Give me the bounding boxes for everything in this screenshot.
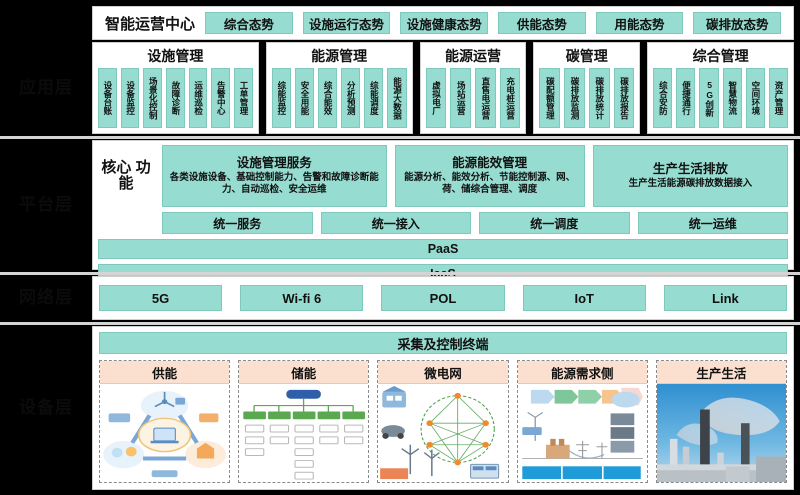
- app-item[interactable]: 综合能效: [318, 68, 337, 128]
- core-box-energy-efficiency[interactable]: 能源能效管理 能源分析、能效分析、节能控制源、网、荷、储综合管理、调度: [395, 145, 585, 207]
- app-item[interactable]: 综合安防: [653, 68, 672, 128]
- paas-bar: PaaS: [98, 239, 788, 259]
- layer-label-network-text: 网络层: [19, 289, 73, 307]
- app-item[interactable]: 碳排放统计: [589, 68, 610, 128]
- device-card-list: 供能: [99, 360, 787, 483]
- app-item[interactable]: 故障诊断: [166, 68, 185, 128]
- app-group-items: 碳配额管理 碳排放监测 碳排放统计 碳排放报告: [539, 68, 634, 128]
- ioc-tab-list: 综合态势 设施运行态势 设施健康态势 供能态势 用能态势 碳排放态势: [205, 12, 785, 34]
- acquisition-control-terminal-header: 采集及控制终端: [99, 332, 787, 354]
- unified-ops[interactable]: 统一运维: [638, 212, 789, 234]
- app-item[interactable]: 5G创新: [699, 68, 718, 128]
- core-function-row: 核心 功能 设施管理服务 各类设施设备、基础控制能力、告警和故障诊断能力、自动巡…: [98, 145, 788, 207]
- app-item[interactable]: 工单管理: [234, 68, 253, 128]
- core-function-label-line1: 核心: [101, 159, 131, 176]
- factory-smokestacks-photo-icon: [657, 384, 786, 482]
- network-layer-band: 网络层 5G Wi-fi 6 POL IoT Link: [0, 276, 800, 320]
- core-box-desc: 各类设施设备、基础控制能力、告警和故障诊断能力、自动巡检、安全运维: [169, 172, 380, 196]
- network-item-5g[interactable]: 5G: [99, 285, 222, 311]
- layer-label-platform: 平台层: [0, 140, 92, 270]
- ioc-panel: 智能运营中心 综合态势 设施运行态势 设施健康态势 供能态势 用能态势 碳排放态…: [92, 6, 794, 40]
- network-panel: 5G Wi-fi 6 POL IoT Link: [92, 276, 794, 320]
- core-box-desc: 生产生活能源碳排放数据接入: [629, 178, 753, 190]
- unified-capability-row: 统一服务 统一接入 统一调度 统一运维: [98, 212, 788, 234]
- app-item[interactable]: 能源大数据: [387, 68, 406, 128]
- device-card-body: [100, 384, 229, 482]
- device-card-body: [239, 384, 368, 482]
- app-item[interactable]: 场景化控制: [143, 68, 162, 128]
- core-box-title: 设施管理服务: [237, 156, 312, 171]
- device-layer-band: 设备层 采集及控制终端 供能: [0, 326, 800, 490]
- unified-service[interactable]: 统一服务: [162, 212, 313, 234]
- app-item[interactable]: 空间环境: [746, 68, 765, 128]
- layer-label-device-text: 设备层: [19, 399, 73, 417]
- app-item[interactable]: 碳配额管理: [539, 68, 560, 128]
- app-item[interactable]: 虚拟电厂: [426, 68, 447, 128]
- app-group-energy-management: 能源管理 综能监控 安全用能 综合能效 分析预测 综能调度 能源大数据: [266, 42, 413, 134]
- ioc-tab[interactable]: 综合态势: [205, 12, 293, 34]
- app-item[interactable]: 运维巡检: [189, 68, 208, 128]
- app-item[interactable]: 告警中心: [211, 68, 230, 128]
- layer-separator: [0, 136, 800, 139]
- app-group-facility-management: 设施管理 设备台账 设备监控 场景化控制 故障诊断 运维巡检 告警中心 工单管理: [92, 42, 259, 134]
- layer-separator: [0, 322, 800, 325]
- ioc-band: 智能运营中心 综合态势 设施运行态势 设施健康态势 供能态势 用能态势 碳排放态…: [0, 6, 800, 40]
- app-group-energy-operation: 能源运营 虚拟电厂 场站运营 直售电运营 充电桩运营: [420, 42, 527, 134]
- device-card-body: [518, 384, 647, 482]
- app-item[interactable]: 综能调度: [364, 68, 383, 128]
- network-item-iot[interactable]: IoT: [523, 285, 646, 311]
- ioc-tab[interactable]: 用能态势: [596, 12, 684, 34]
- layer-label-application-top: [0, 6, 92, 40]
- device-card-demand-side[interactable]: 能源需求侧: [517, 360, 648, 483]
- ioc-tab[interactable]: 碳排放态势: [693, 12, 781, 34]
- storage-table-diagram-icon: [239, 384, 368, 482]
- app-item[interactable]: 安全用能: [295, 68, 314, 128]
- app-item[interactable]: 综能监控: [272, 68, 291, 128]
- unified-access[interactable]: 统一接入: [321, 212, 472, 234]
- ioc-tab[interactable]: 供能态势: [498, 12, 586, 34]
- demand-side-flow-diagram-icon: [518, 384, 647, 482]
- app-item[interactable]: 设备监控: [121, 68, 140, 128]
- app-group-title: 碳管理: [539, 47, 634, 65]
- device-card-microgrid[interactable]: 微电网: [377, 360, 508, 483]
- network-item-pol[interactable]: POL: [381, 285, 504, 311]
- device-card-production-life[interactable]: 生产生活: [656, 360, 787, 483]
- app-group-title: 综合管理: [653, 47, 788, 65]
- core-box-desc: 能源分析、能效分析、节能控制源、网、荷、储综合管理、调度: [402, 172, 578, 196]
- device-card-body: [378, 384, 507, 482]
- device-card-title: 微电网: [378, 361, 507, 384]
- app-item[interactable]: 资产管理: [769, 68, 788, 128]
- app-item[interactable]: 分析预测: [341, 68, 360, 128]
- core-function-label: 核心 功能: [98, 145, 154, 207]
- device-card-title: 供能: [100, 361, 229, 384]
- device-card-body: [657, 384, 786, 482]
- app-item[interactable]: 场站运营: [450, 68, 471, 128]
- layer-label-network: 网络层: [0, 276, 92, 320]
- layer-label-platform-text: 平台层: [19, 196, 73, 214]
- core-box-title: 能源能效管理: [452, 156, 527, 171]
- app-group-items: 综能监控 安全用能 综合能效 分析预测 综能调度 能源大数据: [272, 68, 407, 128]
- device-card-title: 储能: [239, 361, 368, 384]
- application-group-list: 设施管理 设备台账 设备监控 场景化控制 故障诊断 运维巡检 告警中心 工单管理…: [92, 42, 794, 134]
- ioc-tab[interactable]: 设施运行态势: [303, 12, 391, 34]
- app-item[interactable]: 便捷通行: [676, 68, 695, 128]
- app-item[interactable]: 碳排放报告: [614, 68, 635, 128]
- device-card-energy-supply[interactable]: 供能: [99, 360, 230, 483]
- layer-label-application-text: 应用层: [19, 79, 73, 97]
- network-item-link[interactable]: Link: [664, 285, 787, 311]
- core-box-title: 生产生活排放: [653, 162, 728, 177]
- app-group-items: 设备台账 设备监控 场景化控制 故障诊断 运维巡检 告警中心 工单管理: [98, 68, 253, 128]
- layer-label-application: 应用层: [0, 42, 92, 134]
- energy-supply-diagram-icon: [100, 384, 229, 482]
- network-item-wifi6[interactable]: Wi-fi 6: [240, 285, 363, 311]
- core-box-facility-service[interactable]: 设施管理服务 各类设施设备、基础控制能力、告警和故障诊断能力、自动巡检、安全运维: [162, 145, 387, 207]
- device-card-title: 生产生活: [657, 361, 786, 384]
- app-item[interactable]: 直售电运营: [475, 68, 496, 128]
- app-item[interactable]: 设备台账: [98, 68, 117, 128]
- layer-label-device: 设备层: [0, 326, 92, 490]
- ioc-tab[interactable]: 设施健康态势: [400, 12, 488, 34]
- layer-separator: [0, 272, 800, 275]
- device-card-title: 能源需求侧: [518, 361, 647, 384]
- paas-row: PaaS: [98, 239, 788, 259]
- app-item[interactable]: 碳排放监测: [564, 68, 585, 128]
- platform-layer-band: 平台层 核心 功能 设施管理服务 各类设施设备、基础控制能力、告警和故障诊断能力…: [0, 140, 800, 270]
- ioc-title: 智能运营中心: [101, 13, 205, 34]
- app-group-items: 虚拟电厂 场站运营 直售电运营 充电桩运营: [426, 68, 521, 128]
- app-group-title: 能源运营: [426, 47, 521, 65]
- microgrid-network-diagram-icon: [378, 384, 507, 482]
- device-panel: 采集及控制终端 供能: [92, 326, 794, 490]
- core-box-production-emission[interactable]: 生产生活排放 生产生活能源碳排放数据接入: [593, 145, 788, 207]
- app-item[interactable]: 智慧物流: [723, 68, 742, 128]
- platform-panel: 核心 功能 设施管理服务 各类设施设备、基础控制能力、告警和故障诊断能力、自动巡…: [92, 140, 794, 270]
- architecture-diagram: 智能运营中心 综合态势 设施运行态势 设施健康态势 供能态势 用能态势 碳排放态…: [0, 0, 800, 495]
- app-group-title: 能源管理: [272, 47, 407, 65]
- app-group-carbon-management: 碳管理 碳配额管理 碳排放监测 碳排放统计 碳排放报告: [533, 42, 640, 134]
- app-group-title: 设施管理: [98, 47, 253, 65]
- app-group-items: 综合安防 便捷通行 5G创新 智慧物流 空间环境 资产管理: [653, 68, 788, 128]
- unified-dispatch[interactable]: 统一调度: [479, 212, 630, 234]
- app-group-comprehensive-management: 综合管理 综合安防 便捷通行 5G创新 智慧物流 空间环境 资产管理: [647, 42, 794, 134]
- application-layer-band: 应用层 设施管理 设备台账 设备监控 场景化控制 故障诊断 运维巡检 告警中心 …: [0, 42, 800, 134]
- app-item[interactable]: 充电桩运营: [500, 68, 521, 128]
- device-card-energy-storage[interactable]: 储能: [238, 360, 369, 483]
